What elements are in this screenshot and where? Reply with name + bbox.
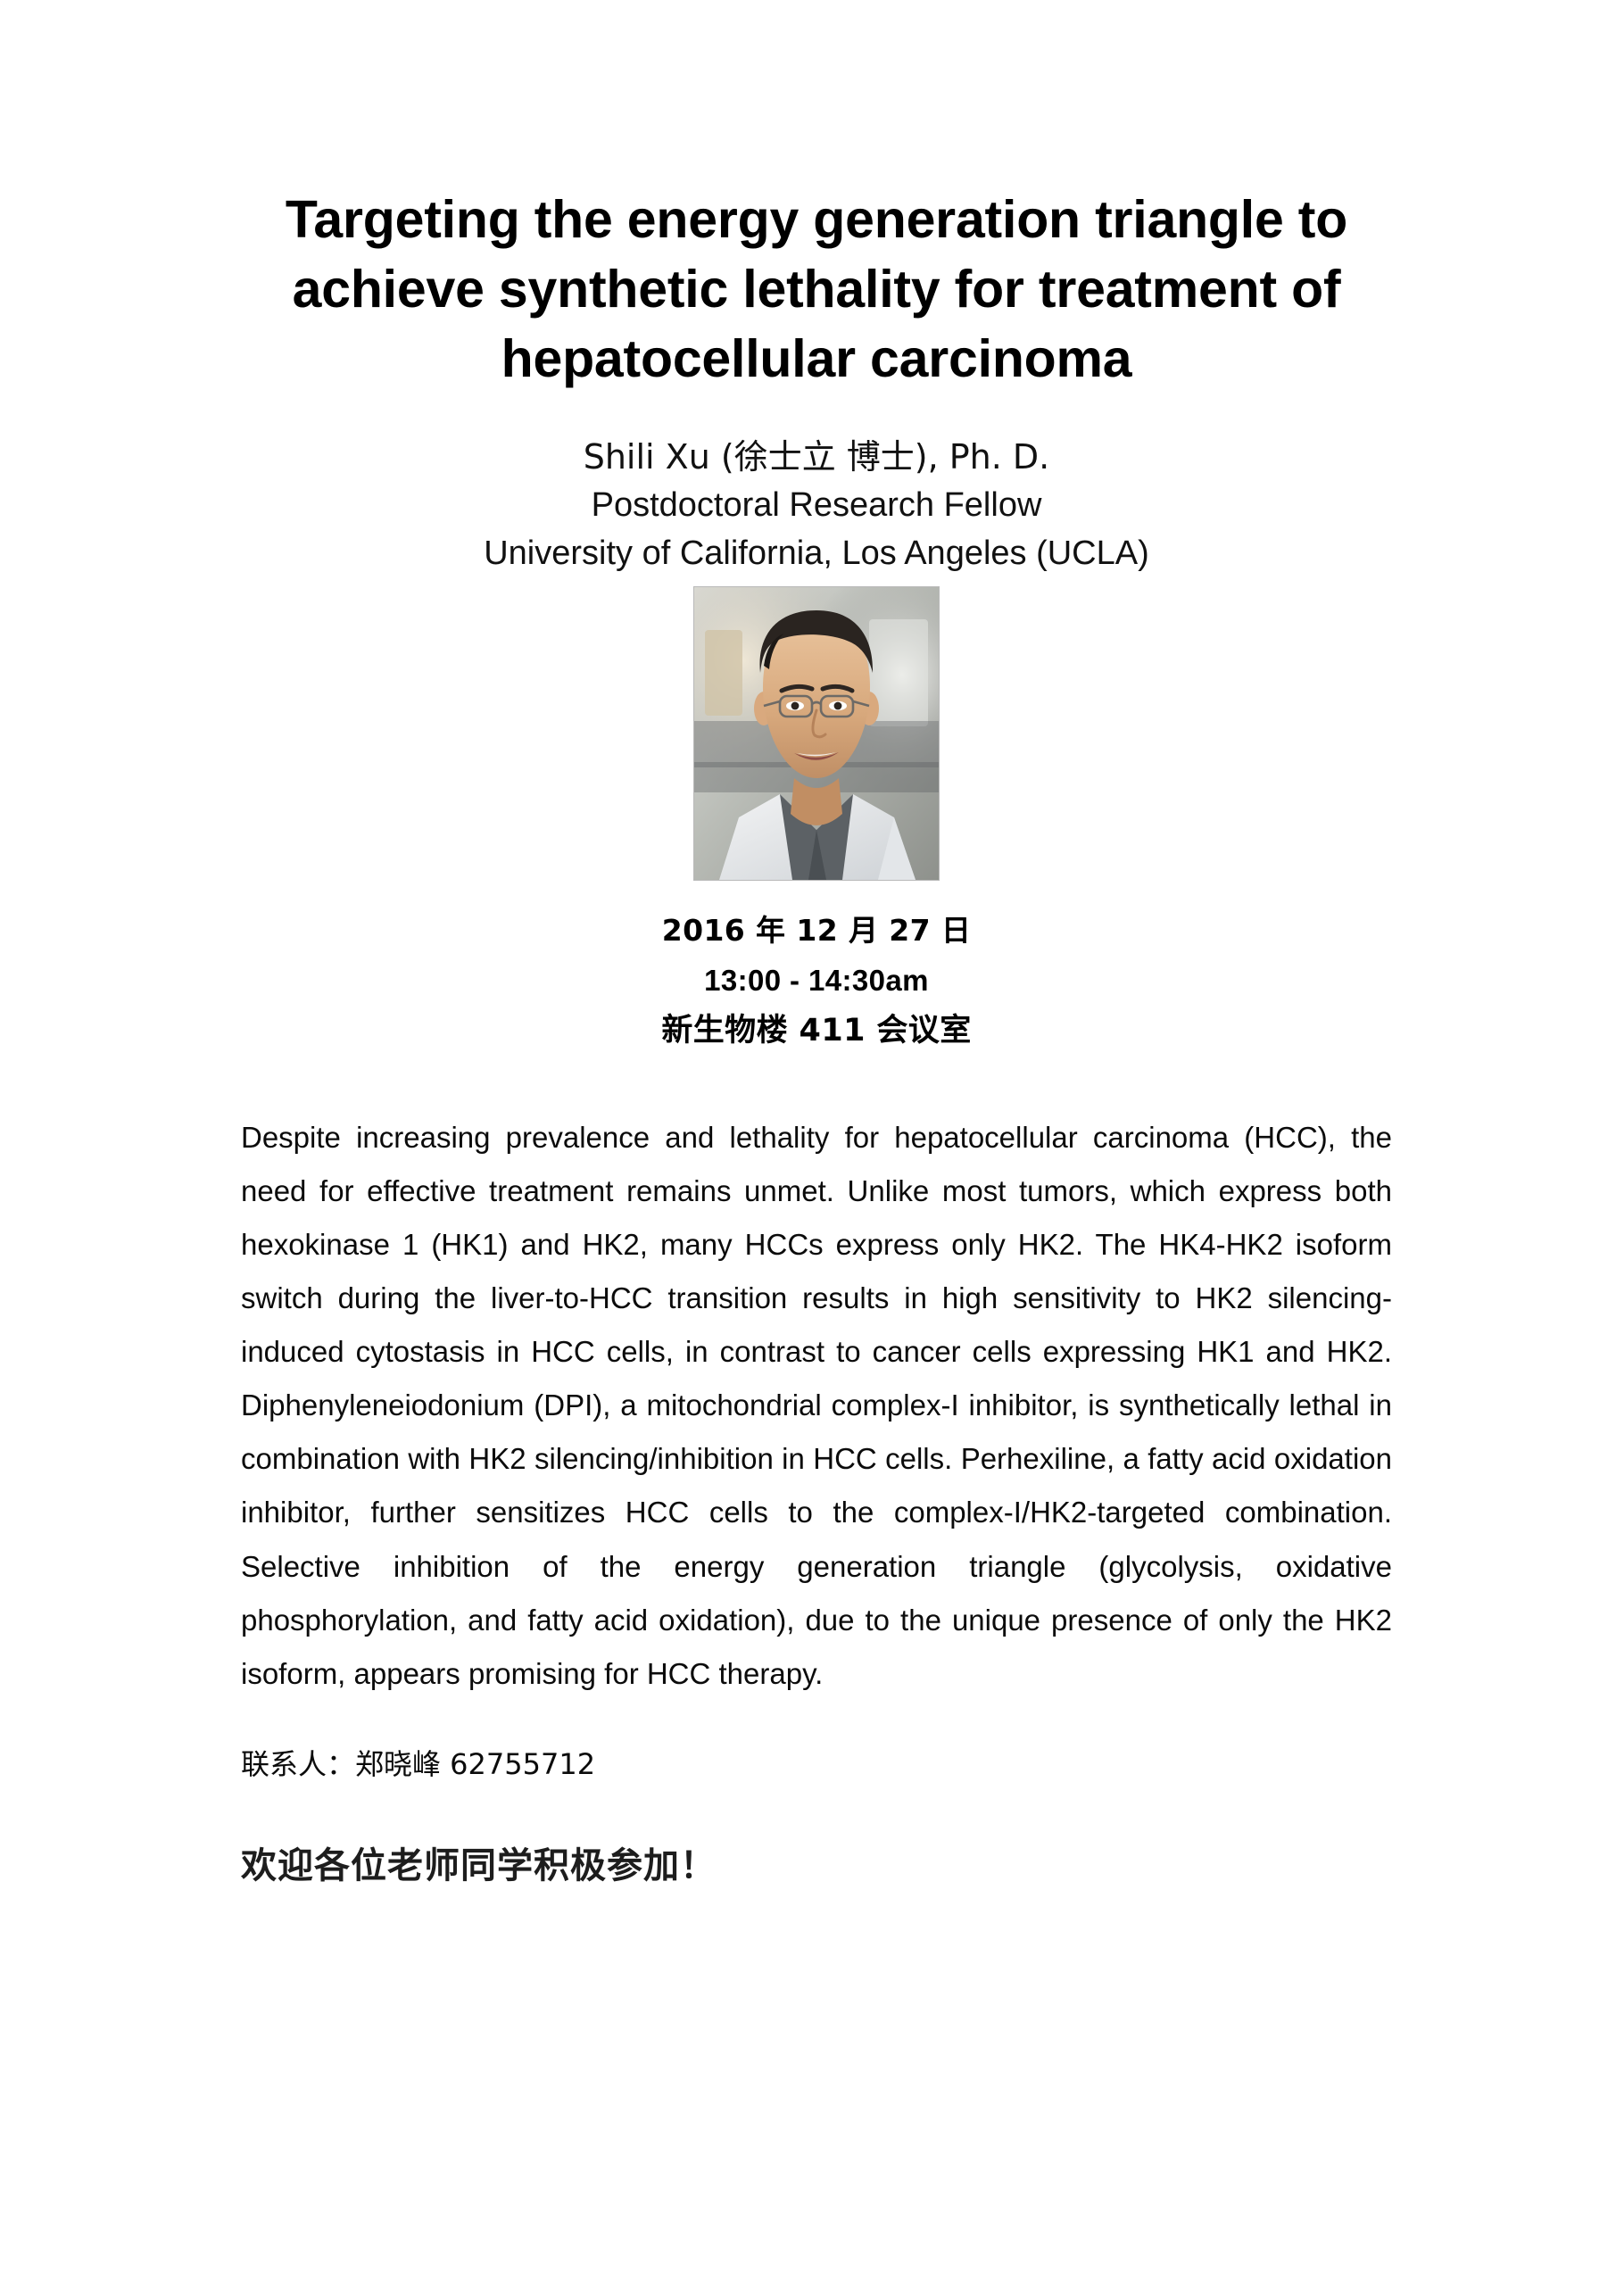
speaker-name: Shili Xu (徐士立 博士), Ph. D.	[241, 434, 1392, 482]
event-date: 2016 年 12 月 27 日	[241, 906, 1392, 955]
speaker-block: Shili Xu (徐士立 博士), Ph. D. Postdoctoral R…	[241, 434, 1392, 578]
title-line-1: Targeting the energy generation triangle…	[241, 186, 1392, 255]
event-time: 13:00 - 14:30am	[241, 956, 1392, 1005]
portrait-container	[241, 586, 1392, 881]
flyer-page: Targeting the energy generation triangle…	[0, 0, 1624, 2296]
contact-line: 联系人：郑晓峰 62755712	[241, 1742, 1392, 1787]
speaker-affiliation: University of California, Los Angeles (U…	[241, 530, 1392, 578]
speaker-portrait-photo	[693, 586, 940, 881]
event-details: 2016 年 12 月 27 日 13:00 - 14:30am 新生物楼 41…	[241, 906, 1392, 1057]
speaker-position: Postdoctoral Research Fellow	[241, 482, 1392, 530]
page-content: Targeting the energy generation triangle…	[241, 0, 1392, 1928]
title-line-3: hepatocellular carcinoma	[241, 325, 1392, 394]
event-location: 新生物楼 411 会议室	[241, 1005, 1392, 1057]
abstract-paragraph: Despite increasing prevalence and lethal…	[241, 1111, 1392, 1701]
page-title: Targeting the energy generation triangle…	[241, 0, 1392, 394]
call-to-action: 欢迎各位老师同学积极参加！	[241, 1839, 1392, 1893]
title-line-2: achieve synthetic lethality for treatmen…	[241, 255, 1392, 325]
